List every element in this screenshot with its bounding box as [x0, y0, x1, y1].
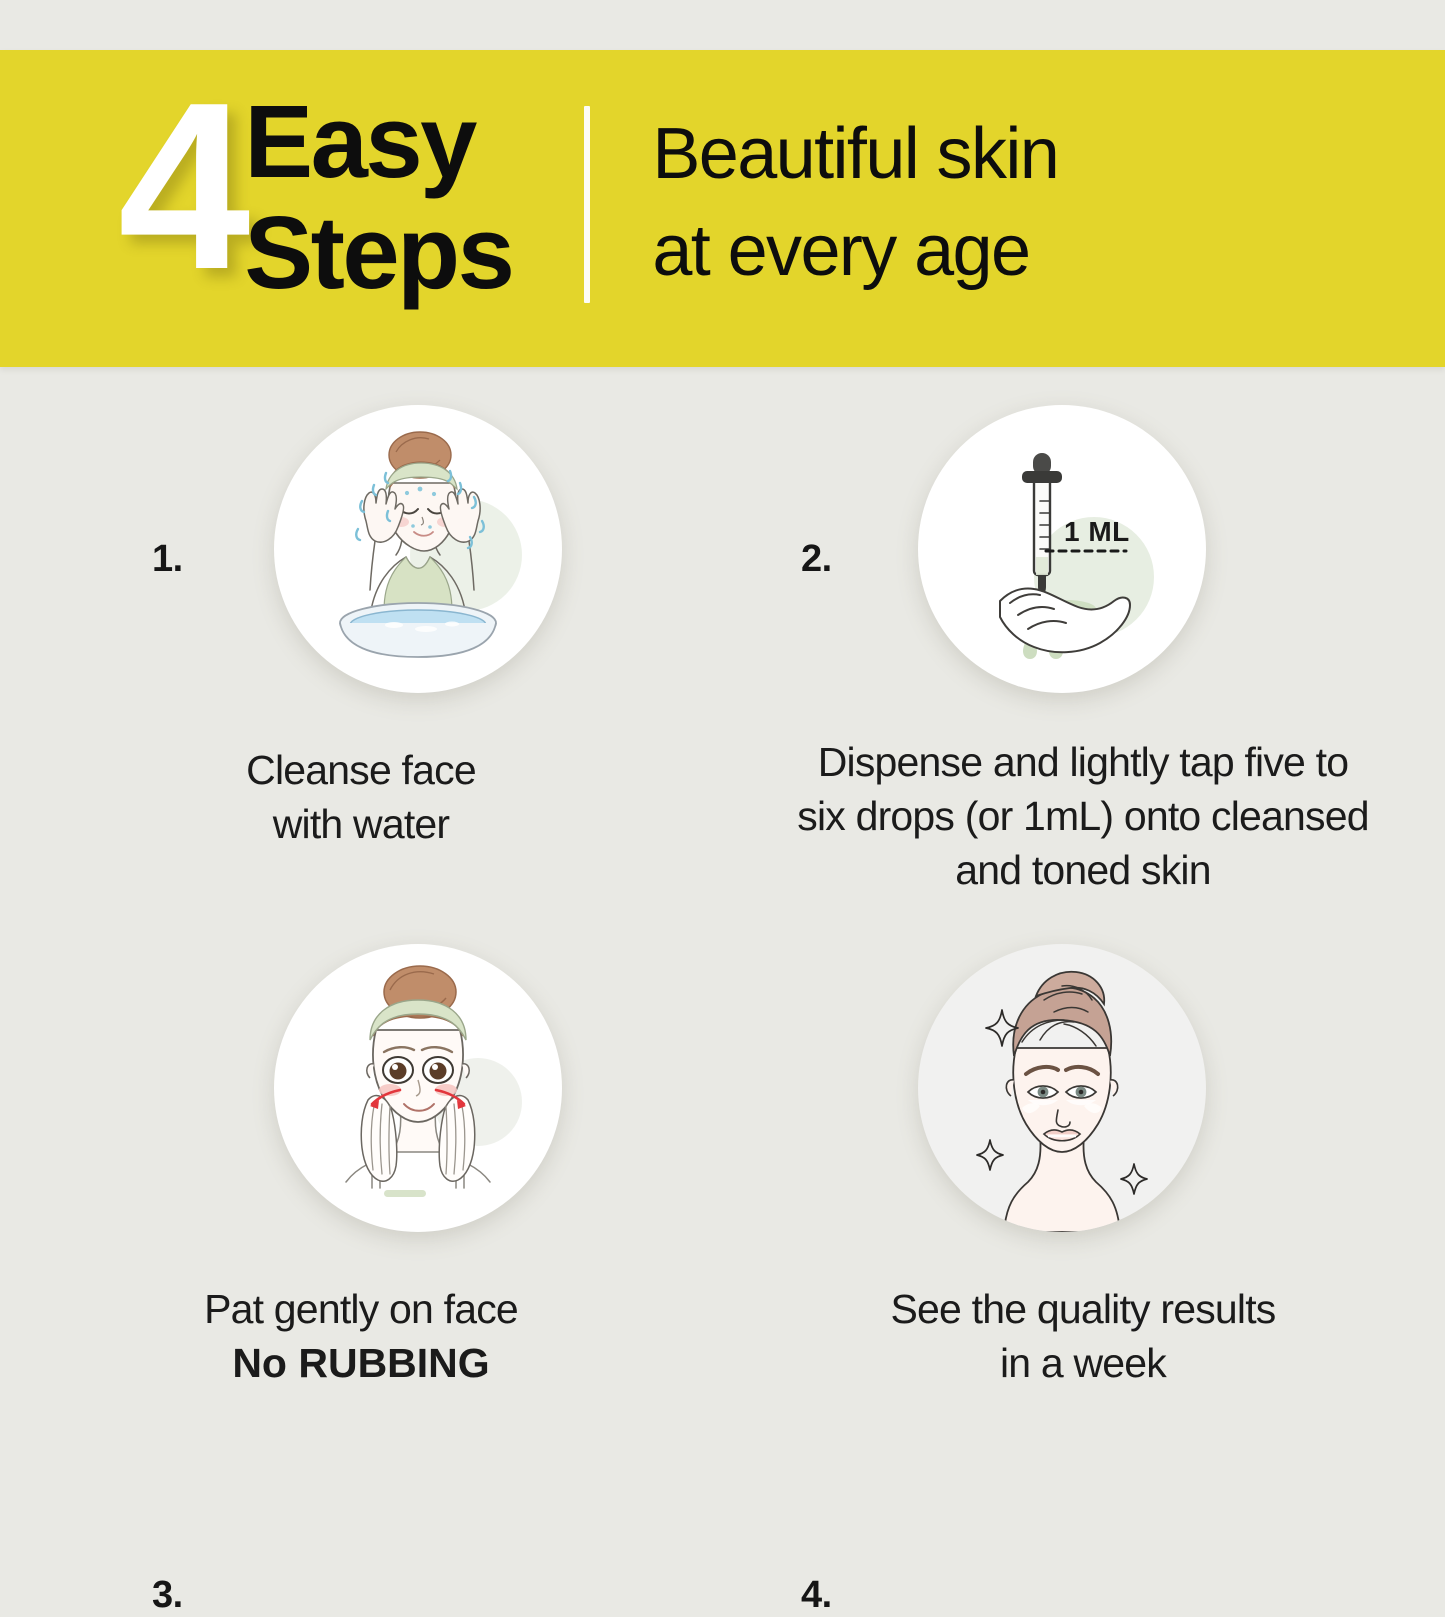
- step-item-3: 3.: [0, 906, 722, 1445]
- caption-emphasis: No RUBBING: [0, 1336, 722, 1390]
- step-item-2: 2.: [722, 367, 1444, 906]
- step-item-1: 1.: [0, 367, 722, 906]
- step-illustration-2: 1 ML: [918, 405, 1206, 693]
- step-number-3: 3.: [152, 1574, 183, 1617]
- tagline-line-1: Beautiful skin: [652, 106, 1058, 202]
- step-caption-2: Dispense and lightly tap five to six dro…: [722, 735, 1444, 897]
- caption-line: Cleanse face: [0, 743, 722, 797]
- step-item-4: 4.: [722, 906, 1444, 1445]
- caption-line: six drops (or 1mL) onto cleansed: [762, 789, 1404, 843]
- caption-line: Dispense and lightly tap five to: [762, 735, 1404, 789]
- step-caption-3: Pat gently on face No RUBBING: [0, 1282, 722, 1390]
- headline-line-2: Steps: [244, 195, 512, 310]
- caption-line: See the quality results: [722, 1282, 1444, 1336]
- caption-line: in a week: [722, 1336, 1444, 1390]
- caption-line: Pat gently on face: [0, 1282, 722, 1336]
- caption-line: and toned skin: [762, 843, 1404, 897]
- header-headline: Easy Steps: [244, 86, 512, 308]
- step-illustration-4: [918, 944, 1206, 1232]
- step-count-numeral: 4: [118, 78, 240, 297]
- step-number-2: 2.: [801, 538, 832, 581]
- header-tagline: Beautiful skin at every age: [652, 106, 1058, 299]
- step-caption-1: Cleanse face with water: [0, 743, 722, 851]
- steps-grid: 1.: [0, 367, 1445, 1445]
- header-vertical-divider: [584, 106, 590, 303]
- step-caption-4: See the quality results in a week: [722, 1282, 1444, 1390]
- step-illustration-3: [274, 944, 562, 1232]
- step-illustration-1: [274, 405, 562, 693]
- header-banner: 4 Easy Steps Beautiful skin at every age: [0, 50, 1445, 367]
- svg-text:1 ML: 1 ML: [1064, 516, 1130, 547]
- header-headline-group: 4 Easy Steps: [118, 50, 512, 367]
- step-number-1: 1.: [152, 538, 183, 581]
- header-banner-content: 4 Easy Steps Beautiful skin at every age: [118, 50, 1385, 367]
- headline-line-1: Easy: [244, 84, 475, 199]
- caption-line: with water: [0, 797, 722, 851]
- tagline-line-2: at every age: [652, 203, 1058, 299]
- step-number-4: 4.: [801, 1574, 832, 1617]
